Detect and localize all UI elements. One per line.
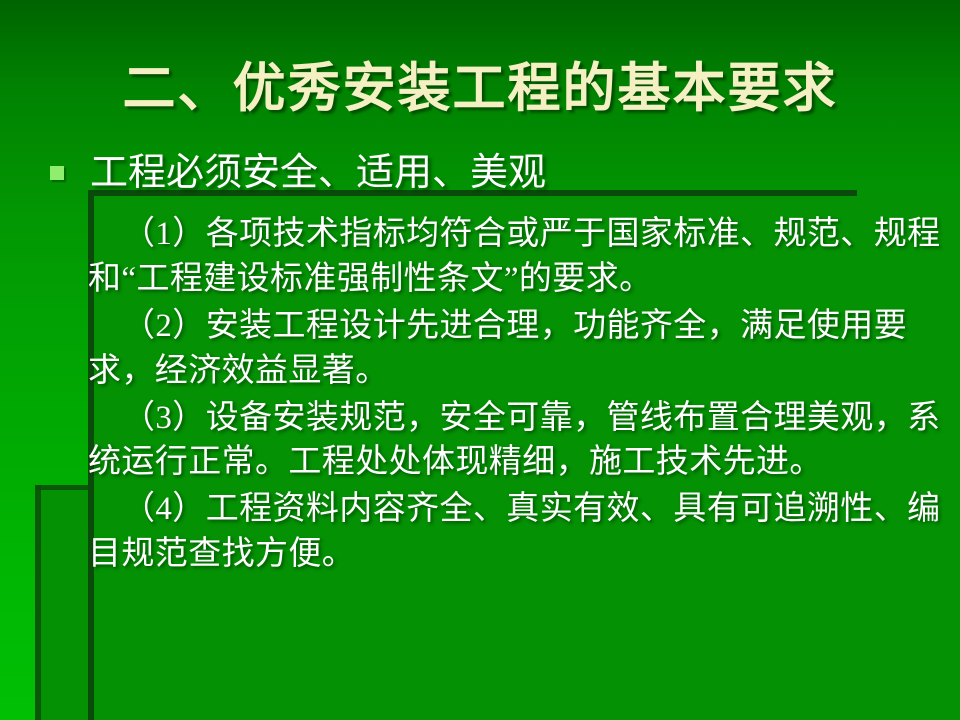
slide-title: 二、优秀安装工程的基本要求 xyxy=(0,62,960,118)
bullet-heading-label: 工程必须安全、适用、美观 xyxy=(90,152,546,196)
body-text-block: （1）各项技术指标均符合或严于国家标准、规范、规程和“工程建设标准强制性条文”的… xyxy=(88,198,960,579)
lower-panel-left-edge xyxy=(35,485,41,720)
body-paragraph: （3）设备安装规范，安全可靠，管线布置合理美观，系统运行正常。工程处处体现精细，… xyxy=(88,396,960,486)
body-paragraph: （4）工程资料内容齐全、真实有效、具有可追溯性、编目规范查找方便。 xyxy=(88,487,960,577)
presentation-slide: 二、优秀安装工程的基本要求 工程必须安全、适用、美观 （1）各项技术指标均符合或… xyxy=(0,0,960,720)
body-paragraph: （1）各项技术指标均符合或严于国家标准、规范、规程和“工程建设标准强制性条文”的… xyxy=(88,198,960,302)
bullet-heading-row: 工程必须安全、适用、美观 xyxy=(50,152,546,196)
square-bullet-icon xyxy=(50,166,64,180)
body-paragraph: （2）安装工程设计先进合理，功能齐全，满足使用要求，经济效益显著。 xyxy=(88,304,960,394)
